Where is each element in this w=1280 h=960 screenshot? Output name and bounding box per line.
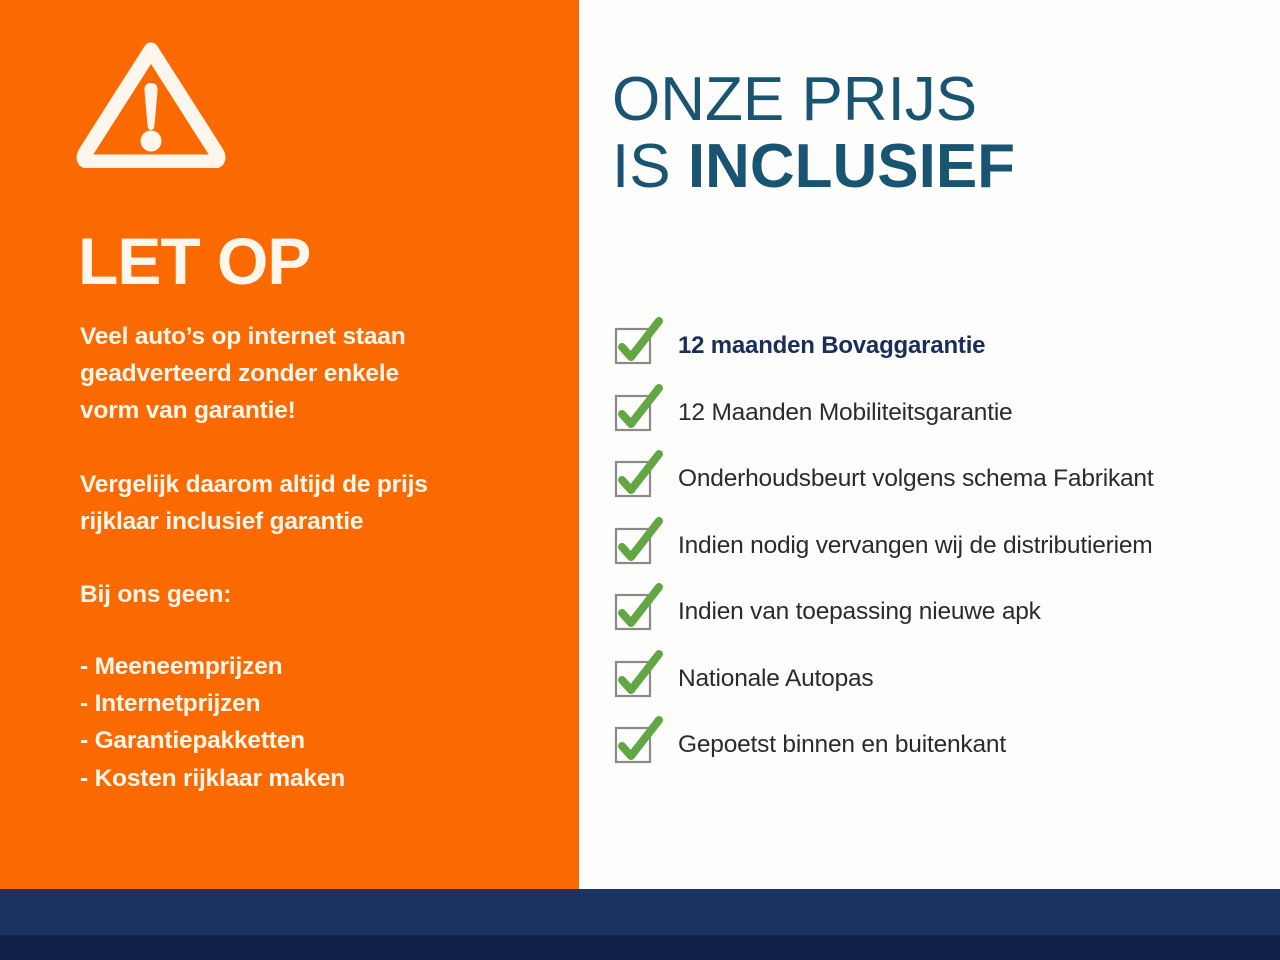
warning-text-block-1: Veel auto’s op internet staan geadvertee… (80, 318, 550, 430)
warning-text-block-2: Vergelijk daarom altijd de prijs rijklaa… (80, 466, 560, 540)
list-item-label: 12 Maanden Mobiliteitsgarantie (678, 399, 1013, 427)
heading-line-2: IS INCLUSIEF (612, 137, 1015, 198)
warning-text-block-3: Bij ons geen: (80, 576, 500, 613)
warning-exclusion-list: - Meeneemprijzen - Internetprijzen - Gar… (80, 648, 540, 797)
warning-panel: LET OP Veel auto’s op internet staan gea… (0, 0, 579, 889)
list-item-label: Indien nodig vervangen wij de distributi… (678, 532, 1152, 560)
list-item-label: 12 maanden Bovaggarantie (678, 332, 985, 360)
warning-line: Bij ons geen: (80, 576, 500, 613)
warning-line: geadverteerd zonder enkele (80, 355, 550, 392)
checked-checkbox-icon (612, 656, 658, 702)
checked-checkbox-icon (612, 722, 658, 768)
list-item-label: Indien van toepassing nieuwe apk (678, 598, 1041, 626)
list-item: Onderhoudsbeurt volgens schema Fabrikant (612, 446, 1272, 513)
heading-line-2-strong: INCLUSIEF (688, 132, 1015, 201)
checked-checkbox-icon (612, 390, 658, 436)
promo-banner: LET OP Veel auto’s op internet staan gea… (0, 0, 1280, 960)
list-item: 12 Maanden Mobiliteitsgarantie (612, 380, 1272, 447)
inclusive-panel: ONZE PRIJS IS INCLUSIEF 12 maanden Bovag… (579, 0, 1280, 889)
exclusion-item: - Meeneemprijzen (80, 648, 540, 685)
warning-triangle-icon (76, 36, 226, 168)
warning-line: Vergelijk daarom altijd de prijs (80, 466, 560, 503)
inclusive-heading: ONZE PRIJS IS INCLUSIEF (612, 70, 1015, 198)
warning-line: vorm van garantie! (80, 392, 550, 429)
exclusion-item: - Internetprijzen (80, 685, 540, 722)
warning-title: LET OP (78, 228, 310, 294)
bottom-bar-light-navy (0, 889, 1280, 935)
list-item: Gepoetst binnen en buitenkant (612, 712, 1272, 779)
checked-checkbox-icon (612, 456, 658, 502)
warning-line: rijklaar inclusief garantie (80, 503, 560, 540)
list-item-label: Gepoetst binnen en buitenkant (678, 731, 1006, 759)
list-item: 12 maanden Bovaggarantie (612, 313, 1272, 380)
heading-line-1: ONZE PRIJS (612, 70, 1015, 131)
checked-checkbox-icon (612, 323, 658, 369)
bottom-bar-dark-navy (0, 935, 1280, 960)
list-item-label: Onderhoudsbeurt volgens schema Fabrikant (678, 465, 1153, 493)
list-item: Indien van toepassing nieuwe apk (612, 579, 1272, 646)
list-item: Indien nodig vervangen wij de distributi… (612, 513, 1272, 580)
checked-checkbox-icon (612, 523, 658, 569)
list-item-label: Nationale Autopas (678, 665, 873, 693)
heading-line-2-regular: IS (612, 132, 688, 201)
exclusion-item: - Kosten rijklaar maken (80, 760, 540, 797)
warning-line: Veel auto’s op internet staan (80, 318, 550, 355)
exclusion-item: - Garantiepakketten (80, 722, 540, 759)
checked-checkbox-icon (612, 589, 658, 635)
list-item: Nationale Autopas (612, 646, 1272, 713)
inclusive-checklist: 12 maanden Bovaggarantie 12 Maanden Mobi… (612, 313, 1272, 779)
